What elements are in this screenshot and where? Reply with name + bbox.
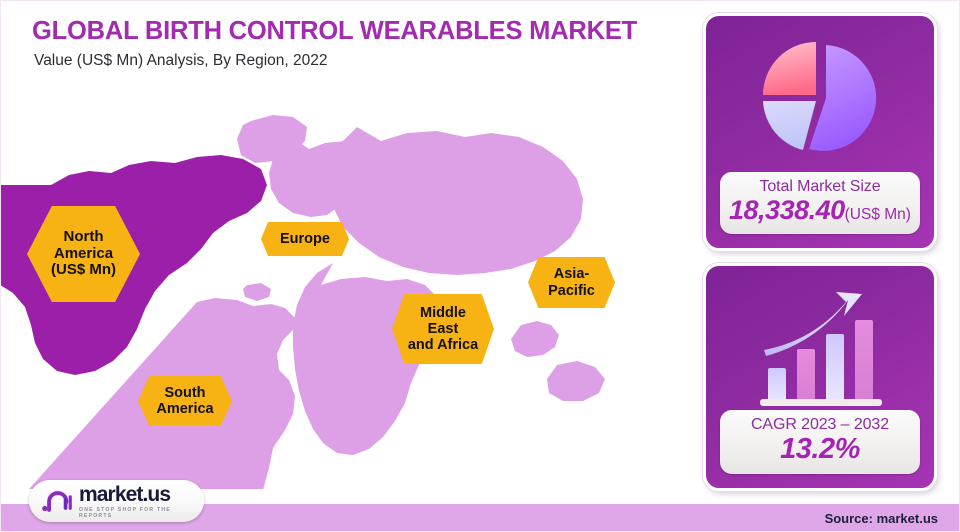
map-label-middle-east-africa[interactable]: Middle East and Africa (392, 294, 494, 364)
map-label-line: Asia- (548, 266, 595, 282)
map-label-line: North (51, 229, 116, 246)
map-label-line: South (156, 385, 213, 401)
page-subtitle: Value (US$ Mn) Analysis, By Region, 2022 (34, 52, 328, 70)
map-label-line: (US$ Mn) (51, 262, 116, 279)
market-size-card: Total Market Size 18,338.40(US$ Mn) (703, 13, 937, 251)
market-us-logo-mark (42, 489, 72, 513)
map-label-line: Pacific (548, 283, 595, 299)
market-us-logo-word: market.us (79, 484, 204, 505)
map-label-europe[interactable]: Europe (261, 222, 349, 256)
cagr-value-box: CAGR 2023 – 2032 13.2% (720, 410, 920, 474)
map-label-line: America (156, 401, 213, 417)
source-label: Source: market.us (825, 511, 938, 526)
bar-chart-growth-icon (706, 276, 934, 416)
map-label-asia-pacific[interactable]: Asia- Pacific (528, 257, 615, 308)
pie-chart-icon (706, 26, 934, 166)
market-size-value: 18,338.40 (729, 195, 845, 225)
cagr-value: 13.2% (724, 433, 916, 466)
map-label-line: and Africa (408, 337, 478, 353)
market-size-value-row: 18,338.40(US$ Mn) (724, 195, 916, 226)
map-label-line: Middle (408, 305, 478, 321)
market-size-label: Total Market Size (724, 178, 916, 196)
market-size-value-box: Total Market Size 18,338.40(US$ Mn) (720, 172, 920, 234)
market-us-logo-tagline: ONE STOP SHOP FOR THE REPORTS (79, 507, 204, 519)
infographic-canvas: GLOBAL BIRTH CONTROL WEARABLES MARKET Va… (0, 0, 960, 532)
map-label-line: Europe (280, 231, 330, 247)
market-size-unit: (US$ Mn) (845, 206, 911, 223)
page-title: GLOBAL BIRTH CONTROL WEARABLES MARKET (32, 17, 637, 46)
map-label-south-america[interactable]: South America (138, 376, 232, 426)
cagr-label: CAGR 2023 – 2032 (724, 416, 916, 434)
map-label-line: East (408, 321, 478, 337)
market-us-logo[interactable]: market.us ONE STOP SHOP FOR THE REPORTS (29, 480, 204, 522)
cagr-card: CAGR 2023 – 2032 13.2% (703, 263, 937, 491)
map-label-line: America (51, 246, 116, 263)
